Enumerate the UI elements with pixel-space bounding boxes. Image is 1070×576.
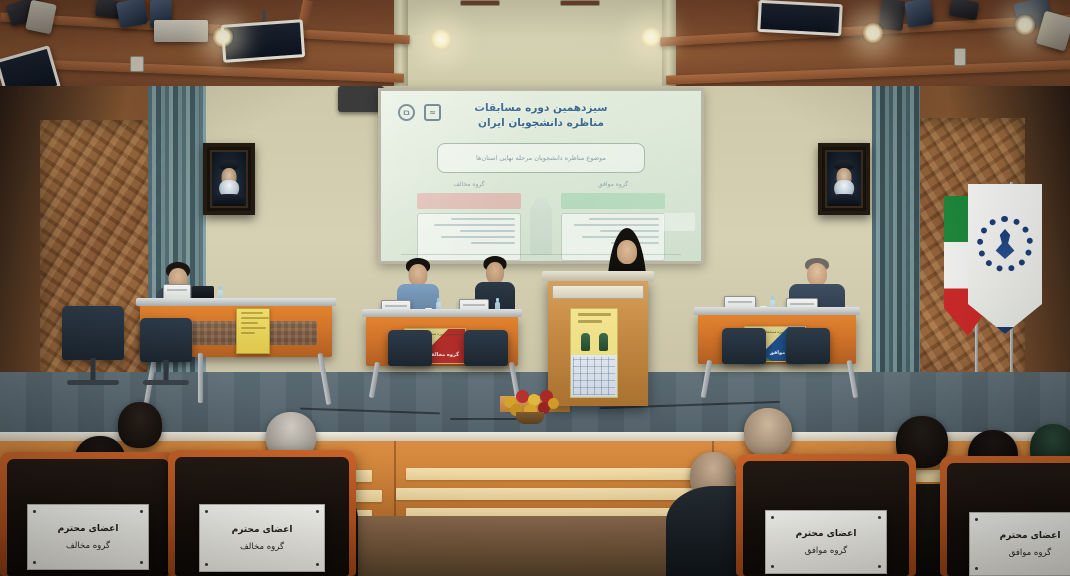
stage-stripe-5 (396, 488, 702, 500)
seat-card-line-1: اعضای محترم (232, 525, 293, 535)
office-chair-right-spare[interactable] (722, 328, 766, 364)
seat-card-line-2: گروه موافق (805, 546, 847, 556)
table-sign-line-2: گروه مخالف (429, 352, 459, 358)
slide-bar-pro (561, 193, 665, 209)
office-chair-debater-1[interactable] (388, 330, 432, 366)
slide-title: سیزدهمین دوره مسابقات مناظره دانشجویان ا… (381, 101, 701, 131)
stage-light-6 (878, 0, 905, 31)
office-chair-judge-left[interactable] (140, 318, 192, 362)
audience-seat-3[interactable]: اعضای محترم گروه موافق (736, 454, 916, 576)
spotlight-1 (212, 26, 234, 48)
stage-flower-bouquet (498, 388, 562, 422)
portrait-khamenei-image (825, 150, 863, 208)
ceiling (0, 0, 1070, 92)
judges-table-poster (236, 308, 270, 354)
slide-column-header-pro: گروه موافق (571, 181, 655, 188)
podium (548, 278, 648, 406)
slide-topic-box: موضوع مناظره دانشجویان مرحله نهایی استان… (437, 143, 645, 173)
seat-card-line-1: اعضای محترم (58, 524, 119, 534)
raised-fist-icon (530, 203, 552, 255)
stage-light-2 (25, 0, 57, 34)
seat-card-4: اعضای محترم گروه موافق (969, 512, 1070, 576)
office-chair-left-spare[interactable] (62, 306, 124, 360)
slide-side-note (663, 213, 695, 231)
ceiling-vent-left (130, 56, 144, 72)
portrait-khomeini (203, 143, 255, 215)
stage-panel-seam-1 (394, 441, 396, 521)
seat-card-line-2: گروه مخالف (66, 541, 110, 551)
seat-card-line-2: گروه موافق (1009, 548, 1051, 558)
ceiling-monitor-left (221, 19, 305, 63)
ceiling-slot-right (560, 0, 600, 6)
shoulders-shape (213, 194, 244, 206)
spotlight-2 (430, 28, 452, 50)
slide-title-line-2: مناظره دانشجویان ایران (381, 116, 701, 131)
office-chair-judge-right[interactable] (786, 328, 830, 364)
office-chair-debater-2[interactable] (464, 330, 508, 366)
institution-emblem-icon (977, 216, 1033, 272)
auditorium-scene: ﬦ ≈ سیزدهمین دوره مسابقات مناظره دانشجوی… (0, 0, 1070, 576)
portrait-khomeini-image (210, 150, 248, 208)
podium-poster (570, 308, 618, 398)
stage-light-4 (116, 0, 148, 28)
ceiling-monitor-right (757, 0, 843, 36)
audience-seat-2[interactable]: اعضای محترم گروه مخالف (168, 450, 356, 576)
seat-card-1: اعضای محترم گروه مخالف (27, 504, 149, 570)
ceiling-slot-left (460, 0, 500, 6)
audience-head-4 (744, 408, 792, 456)
ceiling-beam-3 (0, 58, 404, 83)
slide-topic-text: موضوع مناظره دانشجویان مرحله نهایی استان… (476, 154, 606, 162)
ceiling-monitor-far-left (0, 45, 61, 92)
ceiling-vent-right (954, 48, 966, 66)
stage-stripe-4 (406, 468, 696, 480)
seat-card-3: اعضای محترم گروه موافق (765, 510, 887, 574)
table-leg (198, 353, 203, 403)
seat-card-line-1: اعضای محترم (796, 529, 857, 539)
spotlight-4 (862, 22, 884, 44)
spotlight-3 (640, 26, 662, 48)
spotlight-5 (1014, 14, 1036, 36)
audience-seat-4[interactable]: اعضای محترم گروه موافق (940, 456, 1070, 576)
shoulders-shape (828, 194, 859, 206)
ceiling-beam-4 (666, 60, 1070, 85)
seat-card-2: اعضای محترم گروه مخالف (199, 504, 325, 572)
slide-bar-con (417, 193, 521, 209)
seat-card-line-2: گروه مخالف (240, 542, 284, 552)
seat-card-line-1: اعضای محترم (1000, 531, 1061, 541)
audience-seat-1[interactable]: اعضای محترم گروه مخالف (0, 452, 176, 576)
slide-column-header-con: گروه مخالف (427, 181, 511, 188)
stage-light-8 (949, 0, 980, 20)
audience-head-1 (118, 402, 162, 448)
portrait-khamenei (818, 143, 870, 215)
stage-light-7 (904, 0, 933, 28)
projector-left (154, 20, 208, 42)
slide-title-line-1: سیزدهمین دوره مسابقات (381, 101, 701, 116)
curtain-right (872, 86, 920, 398)
flag-institution (968, 184, 1042, 334)
